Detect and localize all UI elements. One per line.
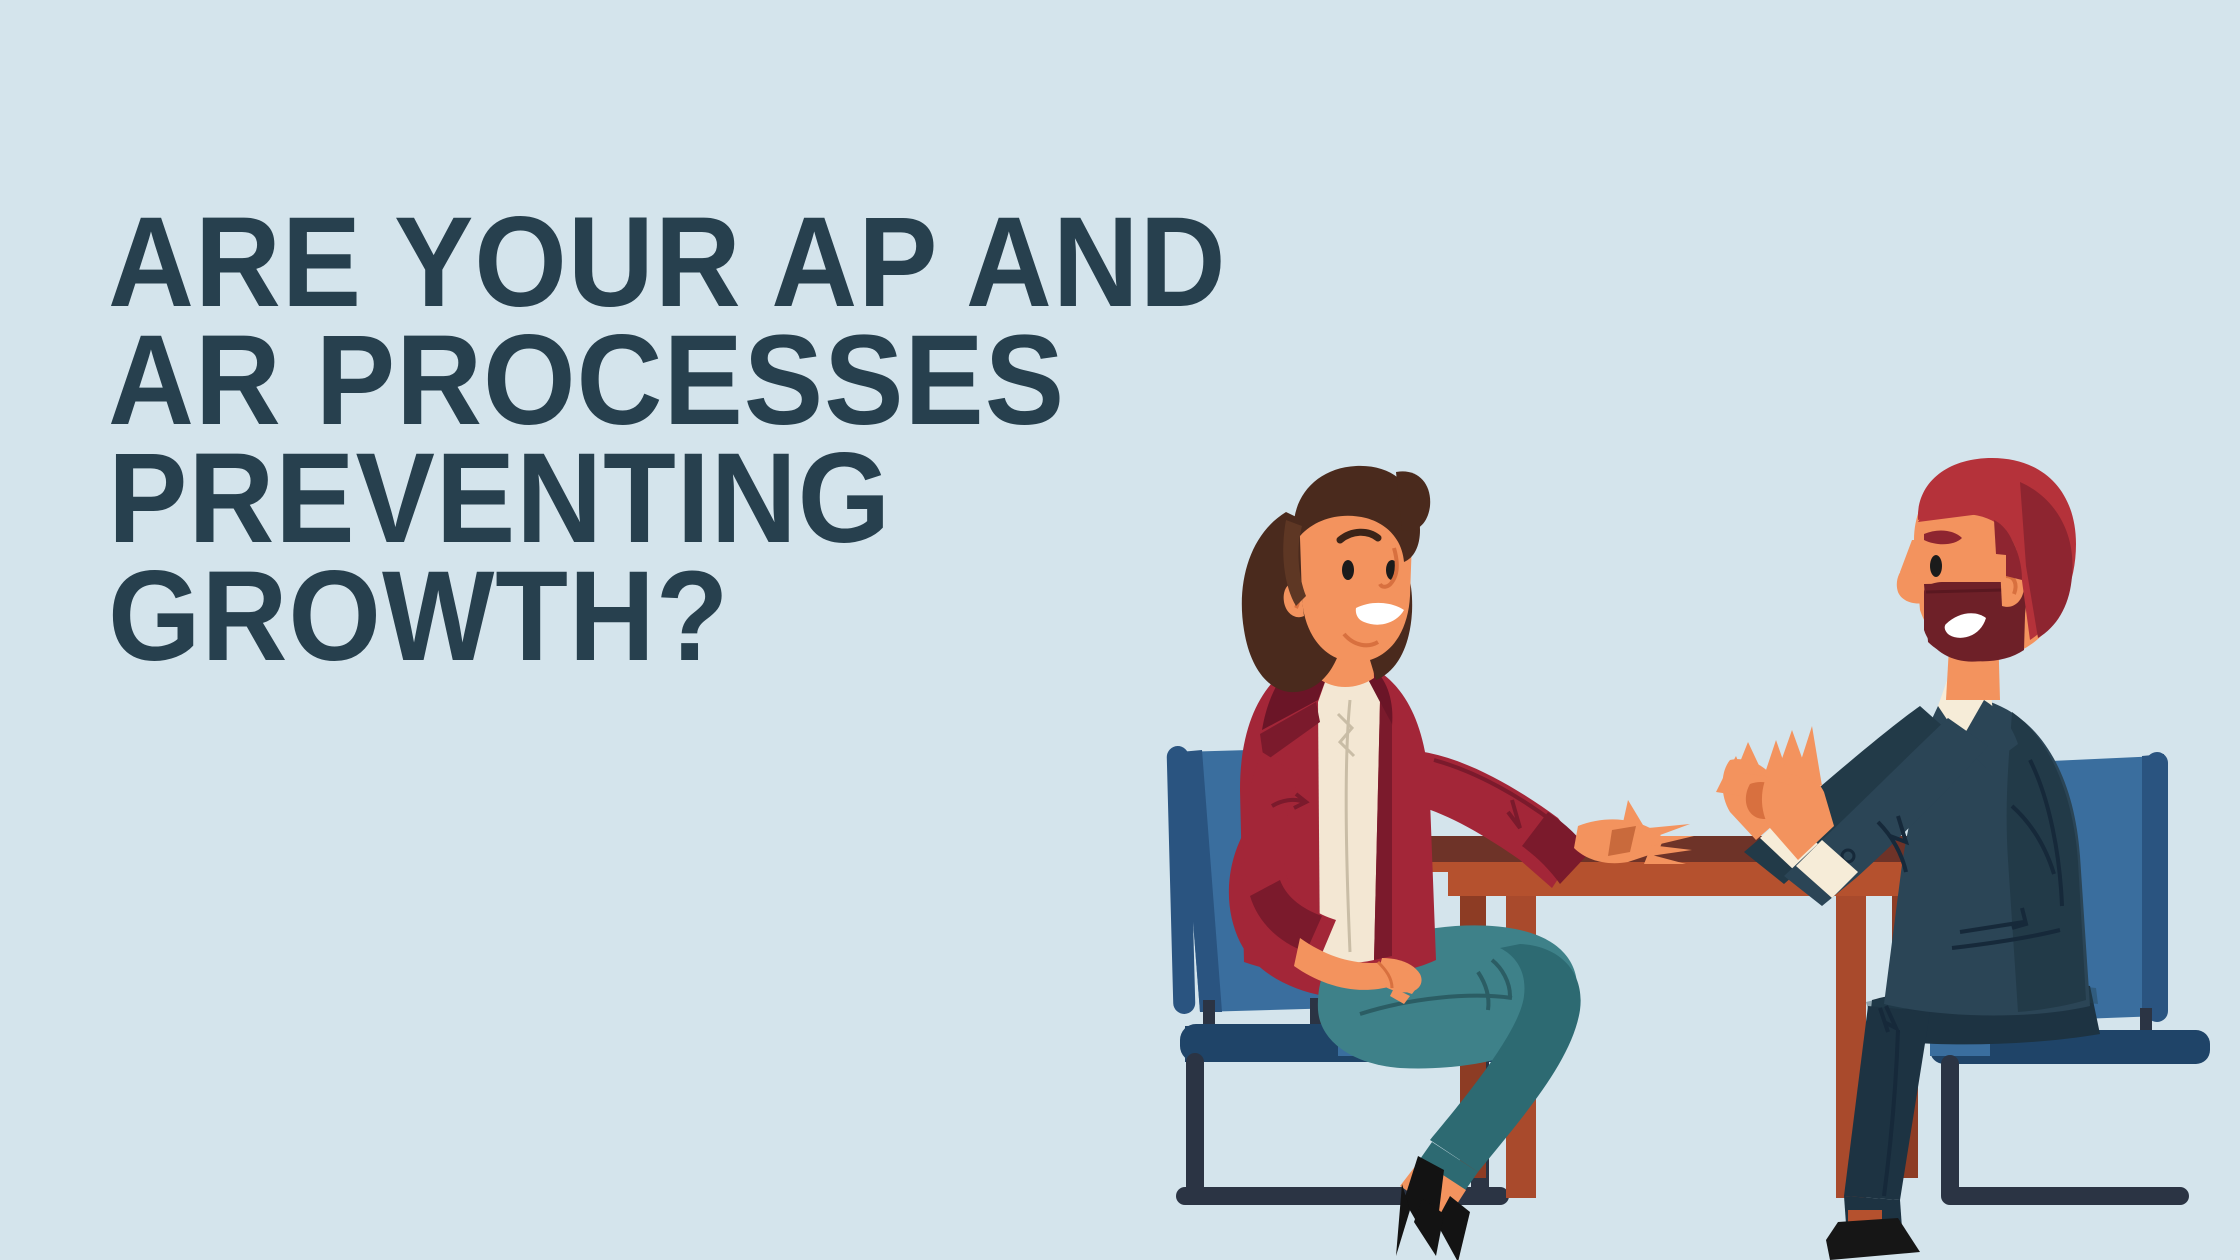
headline-line-2: AR PROCESSES	[108, 322, 1252, 440]
mans-chair	[1930, 752, 2210, 1196]
womans-chair	[1166, 746, 1510, 1196]
woman-legs	[1318, 925, 1581, 1260]
man-legs	[1826, 982, 2100, 1260]
page-title: ARE YOUR AP AND AR PROCESSES PREVENTING …	[108, 204, 1252, 676]
headline-line-1: ARE YOUR AP AND	[108, 204, 1252, 322]
headline-line-3: PREVENTING	[108, 440, 1252, 558]
banner-canvas: ARE YOUR AP AND AR PROCESSES PREVENTING …	[0, 0, 2240, 1260]
man-figure	[1716, 458, 2100, 1260]
headline-line-4: GROWTH?	[108, 558, 1252, 676]
woman-figure	[1229, 466, 1694, 1260]
meeting-table	[1428, 836, 1950, 1198]
